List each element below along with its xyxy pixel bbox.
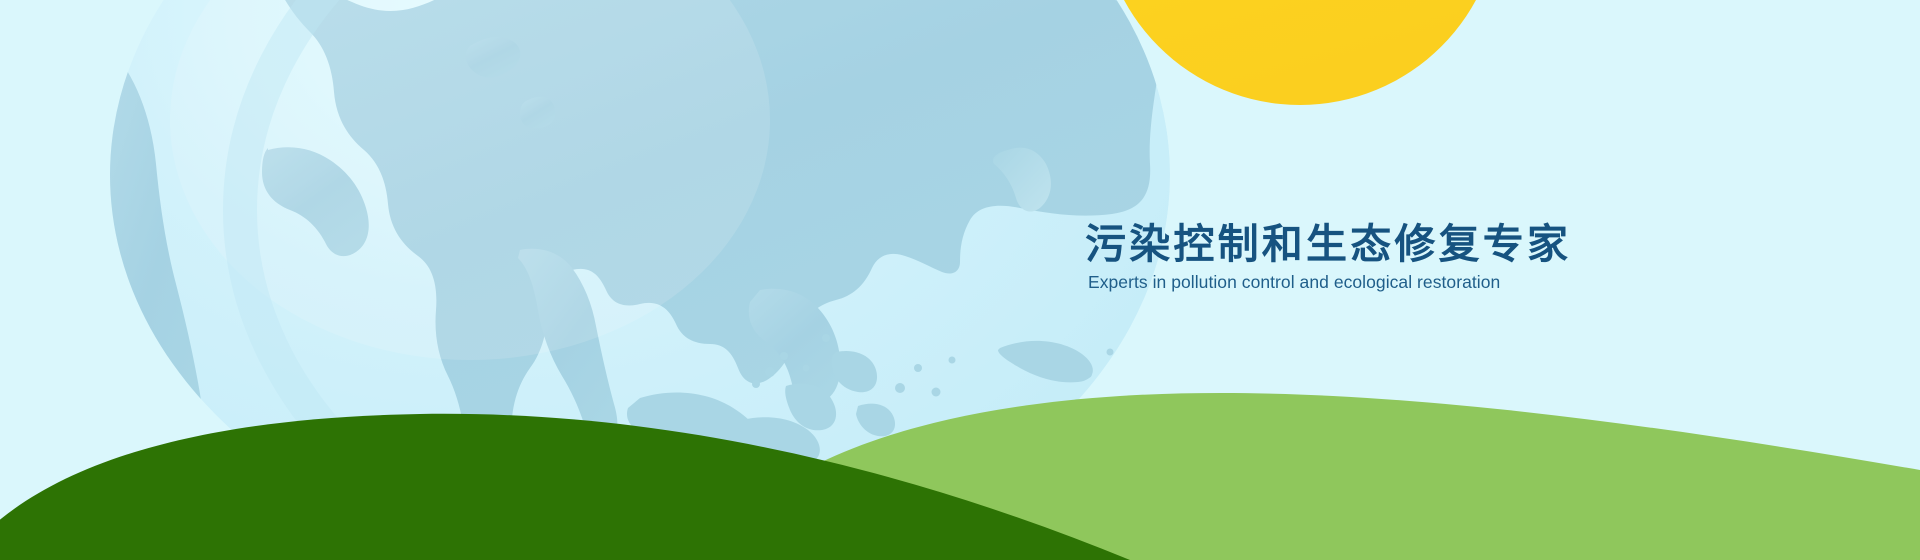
hero-banner: 污染控制和生态修复专家 Experts in pollution control… <box>0 0 1920 560</box>
banner-artwork <box>0 0 1920 560</box>
